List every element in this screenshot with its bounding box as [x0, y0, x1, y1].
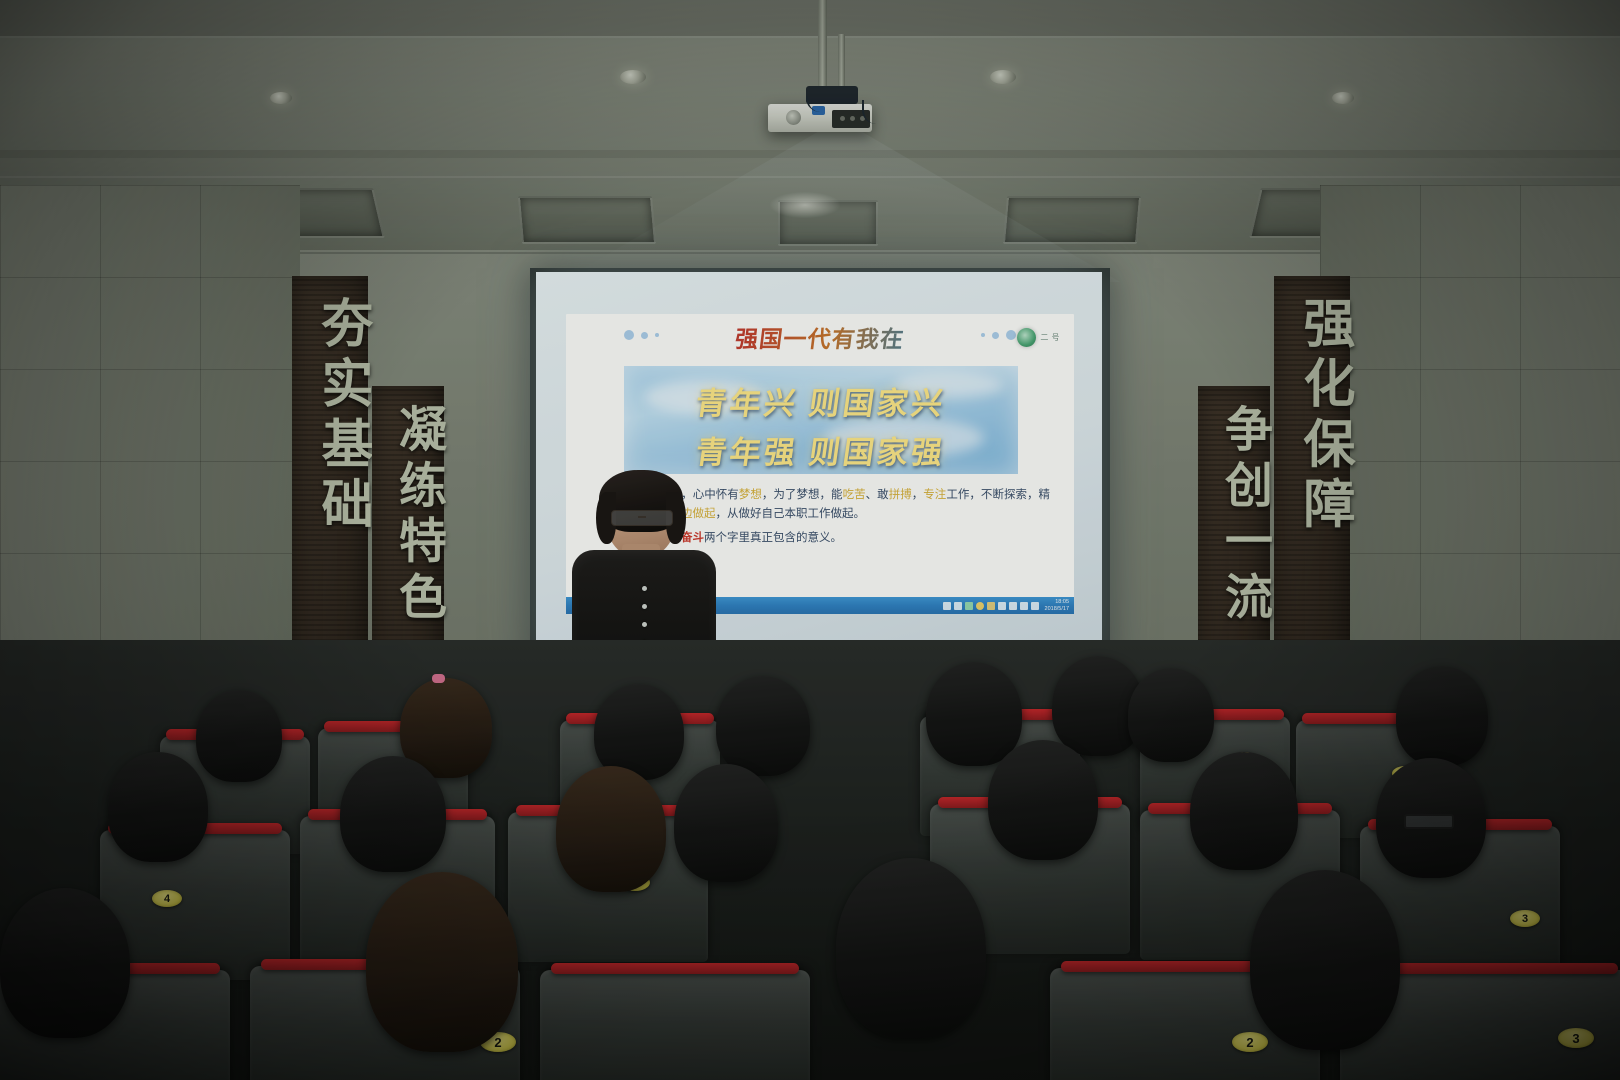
banner-line-2: 青年强 则国家强	[624, 427, 1018, 472]
text-segment: 专注	[923, 489, 946, 501]
taskbar-clock[interactable]: 18:05 2018/5/17	[1045, 599, 1069, 612]
ceiling-seam-1	[0, 36, 1620, 38]
seat-number-badge: 2	[1232, 1032, 1268, 1052]
downlight-1	[270, 92, 292, 104]
audience-head	[988, 740, 1098, 860]
slide-banner-image: 青年兴 则国家兴 青年强 则国家强	[624, 366, 1018, 474]
banner-line-1: 青年兴 则国家兴	[624, 378, 1018, 423]
wall-light-patch	[770, 192, 840, 218]
hair-clip	[432, 674, 445, 683]
calligraphy-right-outer: 强化保障	[1286, 296, 1361, 537]
text-segment: 梦想	[739, 489, 762, 501]
audience-head	[108, 752, 208, 862]
text-segment: ，	[912, 489, 924, 501]
clock-date: 2018/5/17	[1045, 606, 1069, 612]
projector-cable-1	[806, 96, 868, 112]
play-icon[interactable]	[965, 602, 973, 610]
network-icon[interactable]	[1020, 602, 1028, 610]
audience-head	[556, 766, 666, 892]
wall-seam-upper	[260, 252, 1360, 254]
cardigan-button	[642, 586, 647, 591]
ceiling-band-1	[0, 0, 1620, 36]
lecture-hall-photo: 夯实基础 凝练特色 强化保障 争创一流	[0, 0, 1620, 1080]
audience-head	[1396, 666, 1488, 766]
audience-head	[366, 872, 518, 1052]
calligraphy-right-inner: 争创一流	[1208, 404, 1278, 627]
seat[interactable]	[540, 970, 810, 1080]
folder-icon[interactable]	[987, 602, 995, 610]
audience-head	[1190, 752, 1298, 870]
audience-head	[926, 662, 1022, 766]
text-segment: ，从做好自己本职工作做起。	[716, 508, 866, 520]
volume-icon[interactable]	[943, 602, 951, 610]
projector-lens	[786, 110, 801, 125]
audience-head	[716, 676, 810, 776]
audience-head	[196, 690, 282, 782]
ceiling-seam-2	[0, 176, 1620, 178]
text-segment: ，为了梦想，能	[762, 489, 843, 501]
text-segment: 、敢	[866, 489, 889, 501]
projector-mount-pole	[818, 0, 827, 92]
slide-title: 强国一代有我在	[564, 320, 1076, 354]
cardigan-button	[642, 622, 647, 627]
seat-number-badge: 4	[152, 890, 182, 907]
projector-port-1	[840, 116, 845, 121]
audience-head	[674, 764, 778, 882]
ceiling-vent-left-inner	[518, 196, 656, 244]
ceiling-band-2	[0, 150, 1620, 158]
circle-icon[interactable]	[976, 602, 984, 610]
cardigan-button	[642, 604, 647, 609]
slide-logo-badge: 二 号	[1017, 328, 1060, 347]
text-segment: 拼搏	[889, 489, 912, 501]
clock-time: 18:05	[1055, 599, 1069, 605]
downlight-4	[1332, 92, 1354, 104]
seat-number-badge: 3	[1510, 910, 1540, 927]
ceiling-vent-right-inner	[1003, 196, 1141, 244]
calligraphy-left-inner: 凝练特色	[382, 404, 452, 627]
downlight-2	[620, 70, 646, 84]
file-icon[interactable]	[954, 602, 962, 610]
text-segment: 吃苦	[843, 489, 866, 501]
eyeglasses-icon	[1404, 814, 1454, 829]
audience-head	[1250, 870, 1400, 1050]
projector-port-2	[850, 116, 855, 121]
audience-head	[0, 888, 130, 1038]
audience-head	[340, 756, 446, 872]
seat-number-badge: 3	[1558, 1028, 1594, 1048]
ime-icon[interactable]	[1031, 602, 1039, 610]
shield-icon[interactable]	[998, 602, 1006, 610]
seat-rail	[551, 963, 799, 974]
audience-seating: 4 4 3 3 4	[0, 640, 1620, 1080]
audience-head	[836, 858, 986, 1038]
downlight-3	[990, 70, 1016, 84]
logo-icon	[1017, 328, 1036, 347]
projector-cable-2	[862, 100, 894, 124]
logo-label: 二 号	[1040, 332, 1060, 343]
calligraphy-left-outer: 夯实基础	[304, 296, 379, 537]
audience-head	[1128, 668, 1214, 762]
audience-head	[1376, 758, 1486, 878]
speaker-eyeglasses	[611, 510, 673, 526]
battery-icon[interactable]	[1009, 602, 1017, 610]
